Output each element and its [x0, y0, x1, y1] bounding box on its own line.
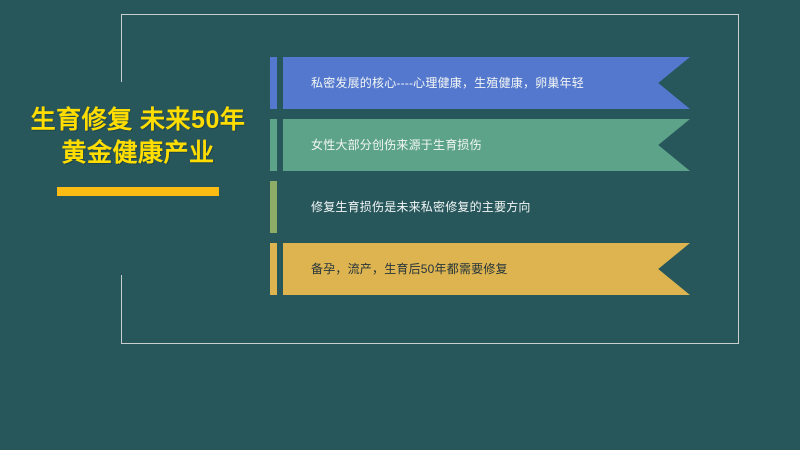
arrow-banner-label: 女性大部分创伤来源于生育损伤	[283, 137, 528, 153]
arrow-banner-label: 私密发展的核心----心理健康，生殖健康，卵巢年轻	[283, 75, 630, 91]
arrow-banner-body[interactable]: 备孕，流产，生育后50年都需要修复	[283, 243, 690, 295]
frame-bottom-border	[121, 343, 739, 344]
arrow-banner-label: 备孕，流产，生育后50年都需要修复	[283, 261, 554, 277]
arrow-banner-body[interactable]: 私密发展的核心----心理健康，生殖健康，卵巢年轻	[283, 57, 690, 109]
arrow-banner-accent-tab	[270, 243, 277, 295]
arrow-banner-row[interactable]: 私密发展的核心----心理健康，生殖健康，卵巢年轻	[270, 57, 690, 109]
frame-top-border	[121, 14, 739, 15]
frame-right-border	[738, 14, 739, 344]
arrow-banner-body[interactable]: 女性大部分创伤来源于生育损伤	[283, 119, 690, 171]
arrow-banner-label: 修复生育损伤是未来私密修复的主要方向	[283, 199, 577, 215]
arrow-banner-row[interactable]: 女性大部分创伤来源于生育损伤	[270, 119, 690, 171]
arrow-banner-accent-tab	[270, 119, 277, 171]
title-underline-rule	[57, 187, 219, 196]
arrow-banner-accent-tab	[270, 181, 277, 233]
arrow-banner-list: 私密发展的核心----心理健康，生殖健康，卵巢年轻女性大部分创伤来源于生育损伤修…	[270, 57, 690, 295]
frame-left-border-lower	[121, 275, 122, 344]
arrow-banner-body[interactable]: 修复生育损伤是未来私密修复的主要方向	[283, 181, 690, 233]
arrow-banner-row[interactable]: 修复生育损伤是未来私密修复的主要方向	[270, 181, 690, 233]
arrow-banner-accent-tab	[270, 57, 277, 109]
slide-canvas: 生育修复 未来50年黄金健康产业 私密发展的核心----心理健康，生殖健康，卵巢…	[0, 0, 800, 450]
frame-left-border-upper	[121, 14, 122, 82]
title-block: 生育修复 未来50年黄金健康产业	[22, 104, 254, 196]
page-title: 生育修复 未来50年黄金健康产业	[22, 104, 254, 170]
arrow-banner-row[interactable]: 备孕，流产，生育后50年都需要修复	[270, 243, 690, 295]
